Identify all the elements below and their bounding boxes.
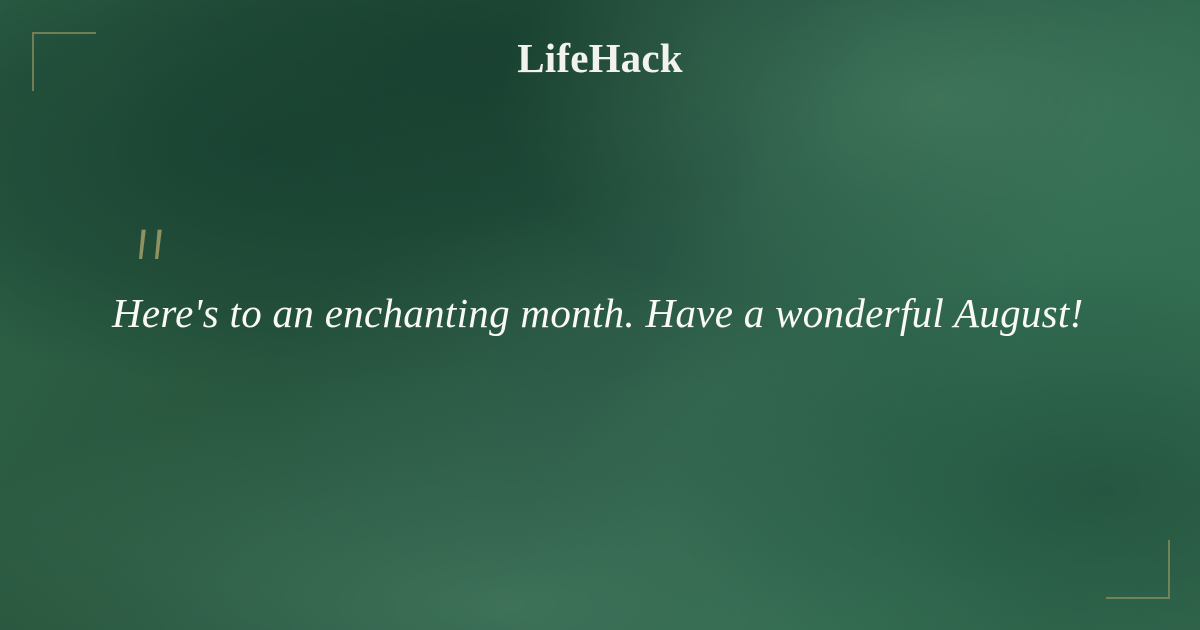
quote-text: Here's to an enchanting month. Have a wo… (112, 288, 1122, 340)
double-quote-icon (132, 228, 176, 270)
brand-logo: LifeHack (0, 36, 1200, 81)
quote-card: LifeHack Here's to an enchanting month. … (0, 0, 1200, 630)
corner-bracket-bottom-right-icon (1106, 540, 1170, 599)
